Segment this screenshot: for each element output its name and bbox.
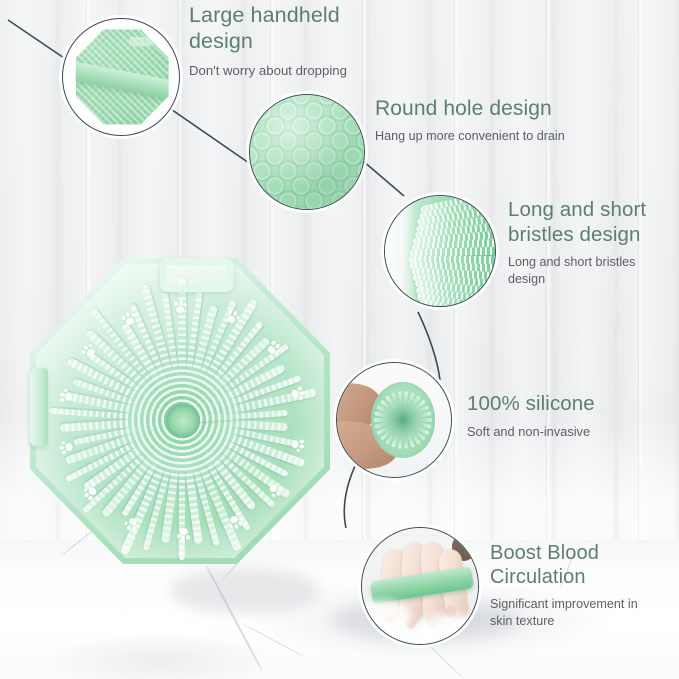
- callout-heading: Large handheld design: [189, 3, 419, 55]
- callout-heading: Long and short bristles design: [508, 198, 673, 247]
- callout-image-round-hole-design: [249, 94, 365, 210]
- callout-text-round-hole-design: Round hole design Hang up more convenien…: [375, 96, 625, 145]
- callout-image-large-handheld-design: [62, 18, 180, 136]
- callout-subtitle: Don't worry about dropping: [189, 62, 419, 79]
- brush-handle-slot: [160, 258, 234, 292]
- callout-heading: 100% silicone: [467, 392, 657, 417]
- callout-text-long-and-short-bristles-design: Long and short bristles design Long and …: [508, 198, 673, 287]
- brush-back-with-strap-photo: [76, 29, 169, 124]
- callout-heading: Round hole design: [375, 96, 625, 121]
- silicone-body-scrubber-main-photo: [14, 246, 344, 581]
- callout-text-boost-blood-circulation: Boost Blood Circulation Significant impr…: [490, 541, 665, 629]
- callout-image-long-and-short-bristles-design: [384, 195, 496, 307]
- infographic-stage: Large handheld design Don't worry about …: [0, 0, 679, 679]
- bristles-closeup-photo: [385, 196, 495, 306]
- hand-gripping-strap-photo: [362, 528, 478, 644]
- callout-subtitle: Significant improvement in skin texture: [490, 596, 665, 629]
- brush-center-hub: [166, 404, 200, 438]
- honeycomb-texture-photo: [250, 95, 364, 209]
- callout-image-boost-blood-circulation: [361, 527, 479, 645]
- hand-flexing-brush-photo: [337, 363, 451, 477]
- brush-front-face: [371, 382, 435, 457]
- hanging-hole-slot: [129, 37, 153, 46]
- callout-subtitle: Soft and non-invasive: [467, 424, 657, 441]
- callout-text-large-handheld-design: Large handheld design Don't worry about …: [189, 3, 419, 79]
- callout-text-100-percent-silicone: 100% silicone Soft and non-invasive: [467, 392, 657, 440]
- callout-subtitle: Hang up more convenient to drain: [375, 128, 625, 145]
- callout-subtitle: Long and short bristles design: [508, 254, 673, 287]
- callout-image-100-percent-silicone: [336, 362, 452, 478]
- callout-heading: Boost Blood Circulation: [490, 541, 665, 589]
- brush-side-tab: [30, 368, 48, 446]
